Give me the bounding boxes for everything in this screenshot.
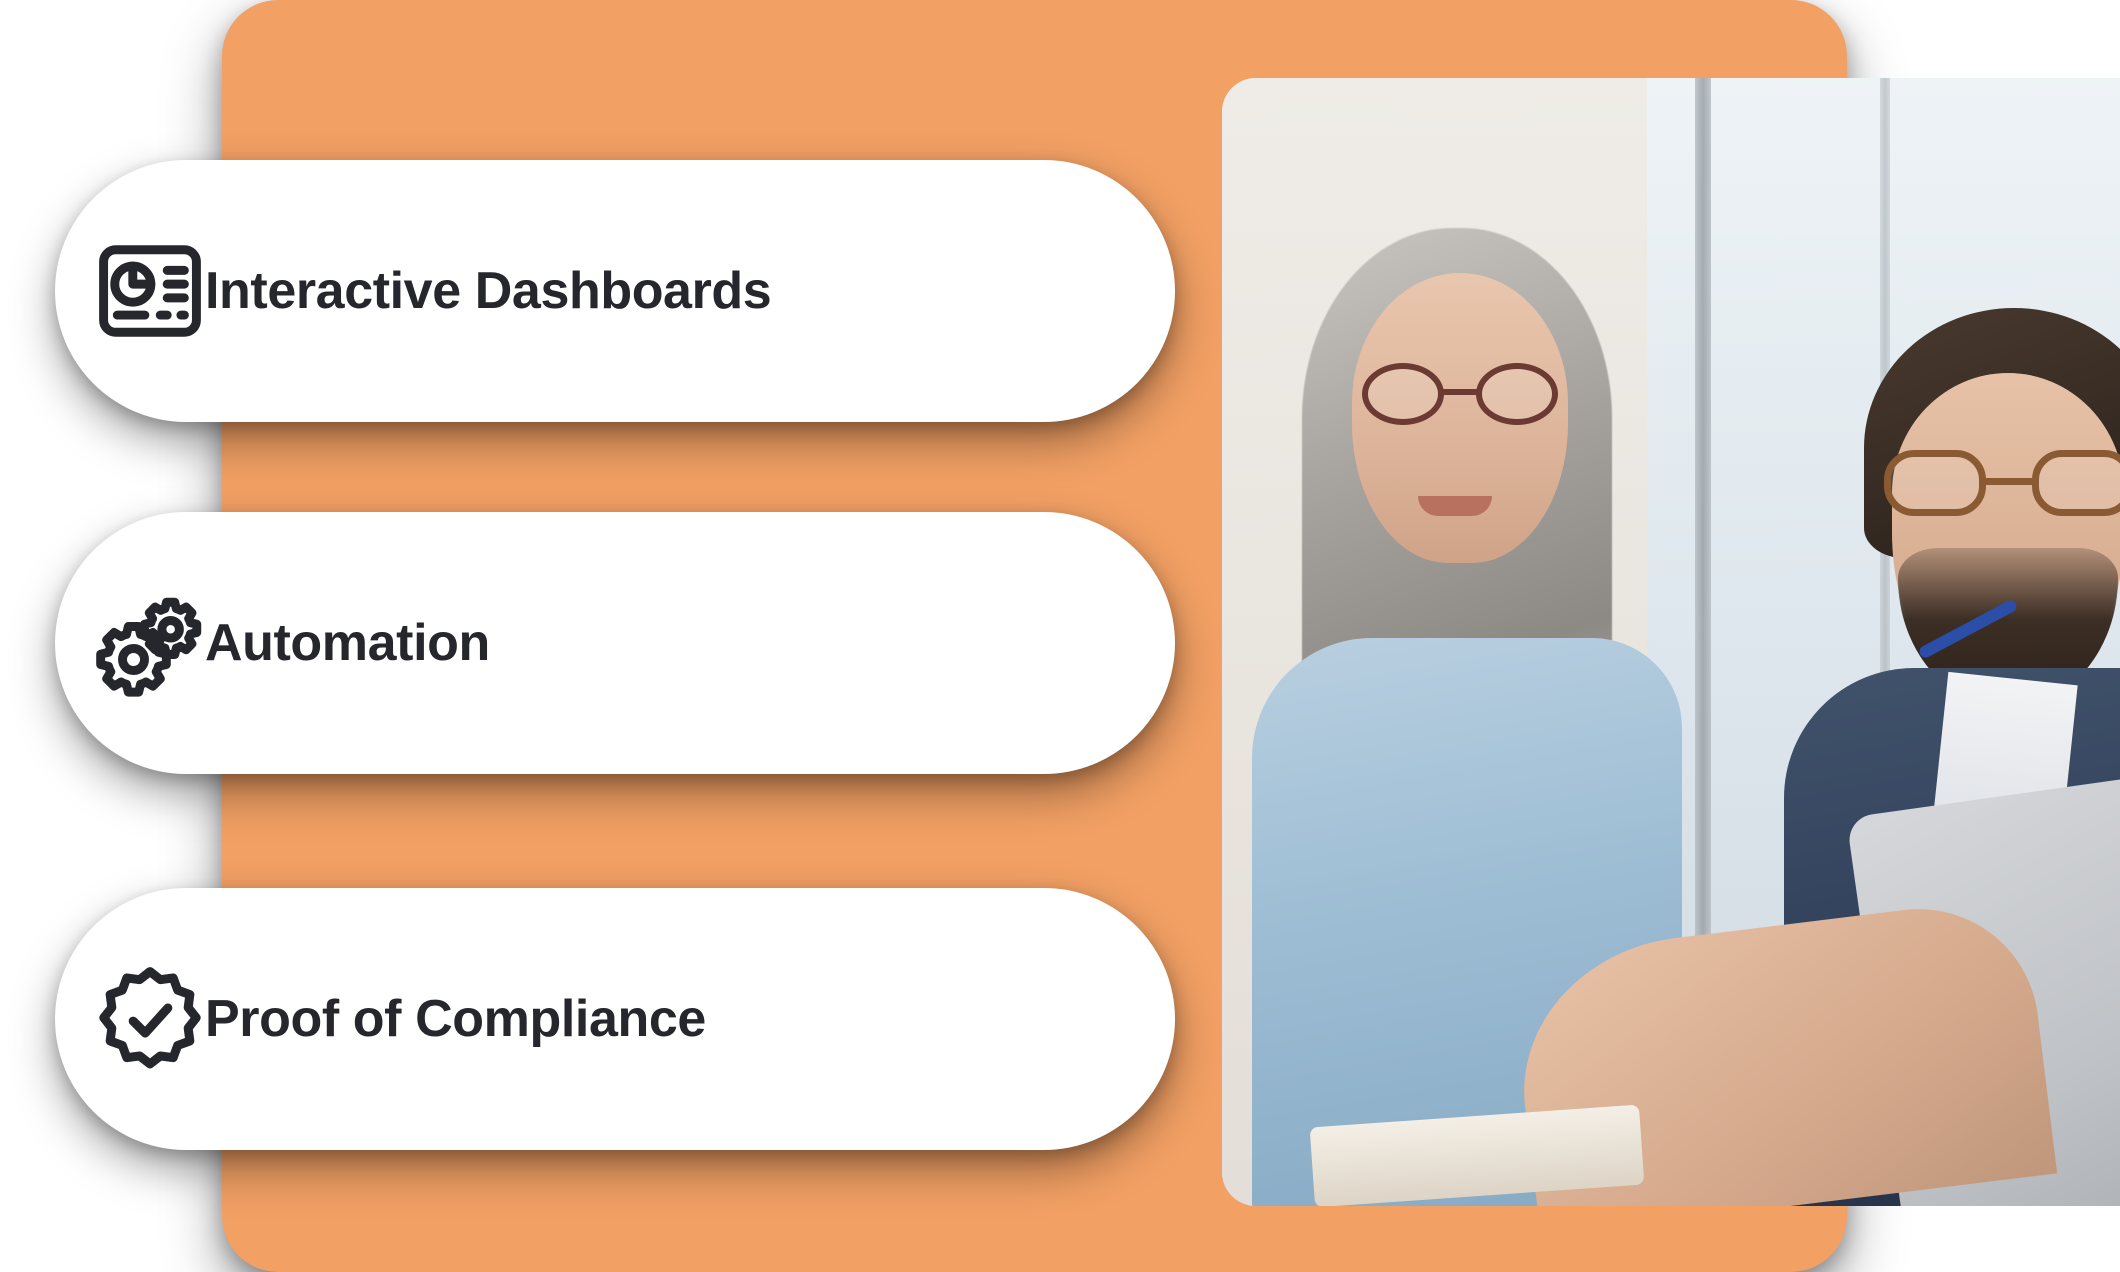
team-reviewing-laptop-photo: [1222, 78, 2120, 1206]
feature-pill-label: Interactive Dashboards: [205, 261, 771, 321]
feature-pill-label: Automation: [205, 613, 490, 673]
feature-pill-proof-of-compliance[interactable]: Proof of Compliance: [55, 888, 1175, 1150]
feature-pill-automation[interactable]: Automation: [55, 512, 1175, 774]
feature-pill-interactive-dashboards[interactable]: Interactive Dashboards: [55, 160, 1175, 422]
dashboard-report-icon: [55, 212, 205, 370]
screenshot-root: Interactive Dashboards Automation Proof …: [0, 0, 2120, 1272]
feature-pill-label: Proof of Compliance: [205, 989, 706, 1049]
gears-icon: [55, 564, 205, 722]
verified-badge-check-icon: [55, 940, 205, 1098]
